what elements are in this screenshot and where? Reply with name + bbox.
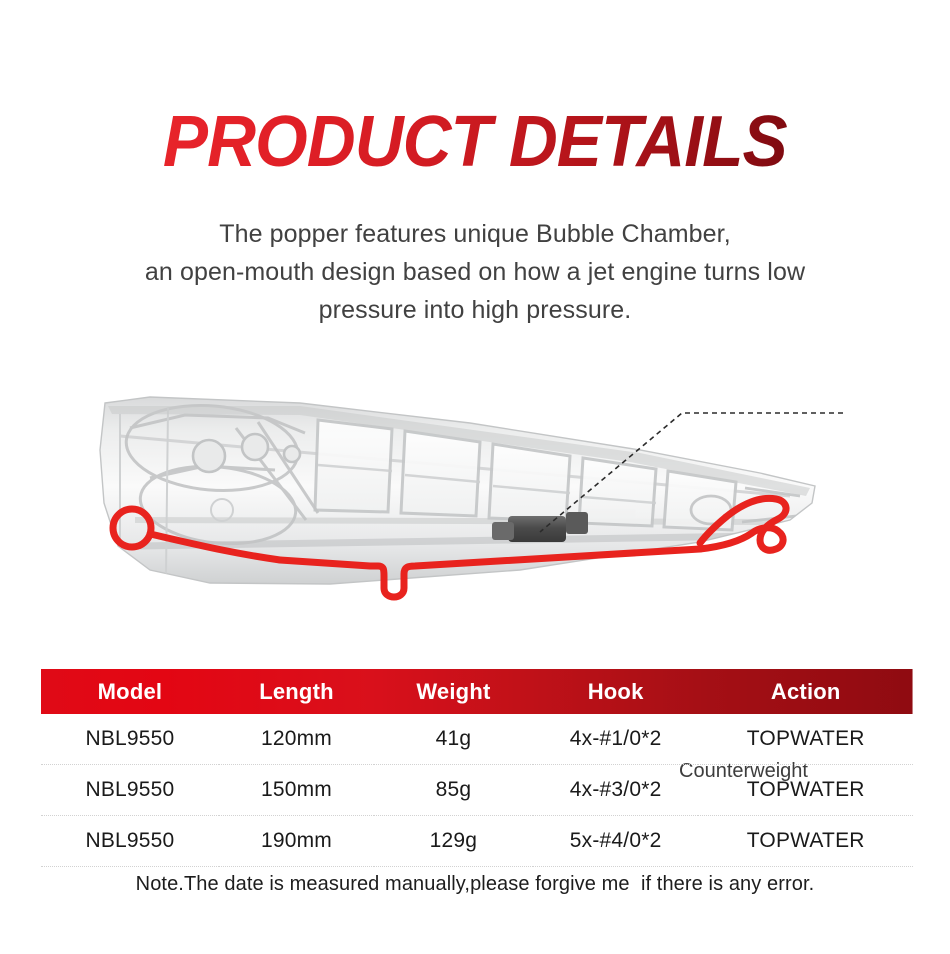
product-figure: Counterweight bbox=[0, 370, 950, 640]
cell-length: 120mm bbox=[219, 714, 374, 765]
cell-hook: 4x-#3/0*2 bbox=[533, 765, 699, 816]
subtitle-line-2: an open-mouth design based on how a jet … bbox=[0, 253, 950, 291]
page-title: PRODUCT DETAILS bbox=[163, 104, 787, 180]
column-header-model: Model bbox=[41, 669, 219, 714]
table-row: NBL9550 150mm 85g 4x-#3/0*2 TOPWATER bbox=[41, 765, 913, 816]
subtitle-line-1: The popper features unique Bubble Chambe… bbox=[0, 215, 950, 253]
cell-length: 150mm bbox=[219, 765, 374, 816]
specification-table: Model Length Weight Hook Action NBL9550 … bbox=[41, 669, 913, 867]
cell-weight: 129g bbox=[374, 816, 533, 867]
cell-action: TOPWATER bbox=[698, 765, 913, 816]
column-header-length: Length bbox=[219, 669, 374, 714]
cell-model: NBL9550 bbox=[41, 765, 219, 816]
column-header-weight: Weight bbox=[374, 669, 533, 714]
cell-weight: 85g bbox=[374, 765, 533, 816]
lure-body bbox=[100, 397, 815, 584]
lure-xray-illustration bbox=[0, 370, 950, 640]
cell-action: TOPWATER bbox=[698, 714, 913, 765]
table-row: NBL9550 190mm 129g 5x-#4/0*2 TOPWATER bbox=[41, 816, 913, 867]
table-row: NBL9550 120mm 41g 4x-#1/0*2 TOPWATER bbox=[41, 714, 913, 765]
cell-action: TOPWATER bbox=[698, 816, 913, 867]
column-header-action: Action bbox=[698, 669, 913, 714]
page-title-container: PRODUCT DETAILS bbox=[0, 104, 950, 180]
subtitle-line-3: pressure into high pressure. bbox=[0, 291, 950, 329]
cell-hook: 4x-#1/0*2 bbox=[533, 714, 699, 765]
product-details-page: PRODUCT DETAILS The popper features uniq… bbox=[0, 0, 950, 954]
cell-hook: 5x-#4/0*2 bbox=[533, 816, 699, 867]
subtitle-block: The popper features unique Bubble Chambe… bbox=[0, 215, 950, 329]
measurement-note: Note.The date is measured manually,pleas… bbox=[0, 873, 950, 896]
column-header-hook: Hook bbox=[533, 669, 699, 714]
cell-model: NBL9550 bbox=[41, 714, 219, 765]
cell-length: 190mm bbox=[219, 816, 374, 867]
table-header-row: Model Length Weight Hook Action bbox=[41, 669, 913, 714]
cell-model: NBL9550 bbox=[41, 816, 219, 867]
cell-weight: 41g bbox=[374, 714, 533, 765]
